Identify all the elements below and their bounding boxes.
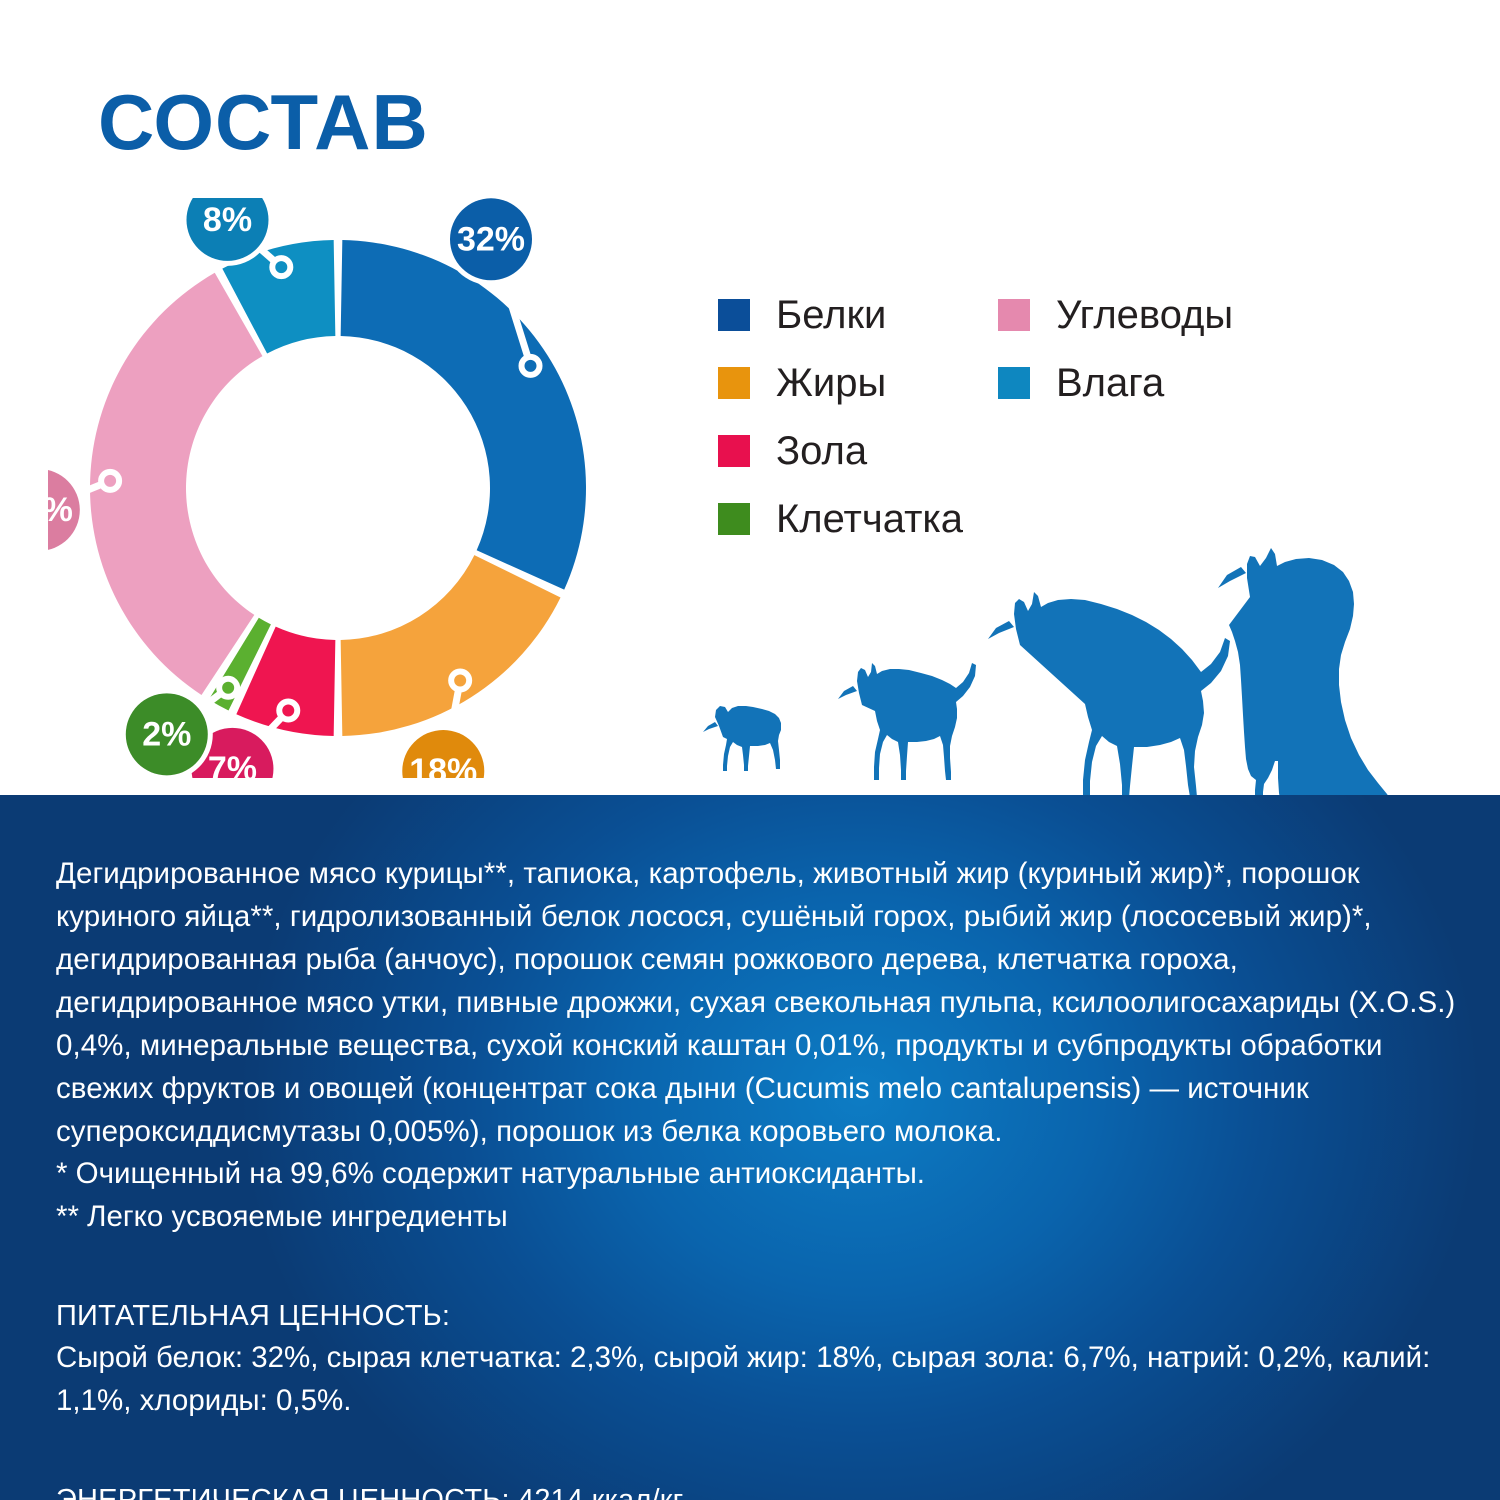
legend-item-moisture: Влага (998, 349, 1233, 417)
legend-swatch-ash (718, 435, 750, 467)
dog-silhouette-small (838, 663, 976, 780)
dog-silhouette-giant (1218, 548, 1399, 795)
legend-swatch-fat (718, 367, 750, 399)
footnote-single-star: * Очищенный на 99,6% содержит натуральны… (56, 1153, 1456, 1196)
leader-dot-жиры (451, 672, 469, 690)
leader-dot-зола (279, 702, 297, 720)
dogs-svg (690, 545, 1480, 795)
legend-label-protein: Белки (776, 295, 886, 335)
ingredients-paragraph: Дегидрированное мясо курицы**, тапиока, … (56, 853, 1456, 1153)
percent-label-зола: 7% (208, 750, 257, 778)
leader-dot-углеводы (101, 472, 119, 490)
nutrition-body: Сырой белок: 32%, сырая клетчатка: 2,3%,… (56, 1337, 1456, 1423)
dog-size-silhouettes (690, 545, 1480, 795)
legend-label-ash: Зола (776, 431, 867, 471)
leader-dot-белки (522, 357, 540, 375)
percent-label-углеводы: 33% (48, 491, 73, 529)
legend-swatch-fiber (718, 503, 750, 535)
legend-swatch-protein (718, 299, 750, 331)
legend-column-2: Углеводы Влага (998, 281, 1233, 417)
donut-slice-жиры (341, 555, 561, 736)
legend-label-moisture: Влага (1056, 363, 1164, 403)
percent-label-жиры: 18% (409, 752, 477, 778)
nutrition-heading: ПИТАТЕЛЬНАЯ ЦЕННОСТЬ: (56, 1295, 1456, 1337)
legend-item-fiber: Клетчатка (718, 485, 963, 553)
dog-silhouette-large (988, 592, 1230, 795)
donut-slice-белки (341, 240, 586, 590)
page-title: СОСТАВ (98, 83, 429, 161)
legend-swatch-carbs (998, 299, 1030, 331)
legend-item-ash: Зола (718, 417, 963, 485)
legend-label-fiber: Клетчатка (776, 499, 963, 539)
percent-label-клетчатка: 2% (142, 715, 191, 753)
percent-label-белки: 32% (457, 220, 525, 258)
bottom-blue-panel: Дегидрированное мясо курицы**, тапиока, … (0, 795, 1500, 1500)
top-white-panel: СОСТАВ 32%18%7%2%33%8% Белки Жиры Зола (0, 0, 1500, 795)
donut-svg: 32%18%7%2%33%8% (48, 198, 628, 778)
composition-donut-chart: 32%18%7%2%33%8% (48, 198, 628, 778)
leader-dot-влага (272, 258, 290, 276)
legend-label-carbs: Углеводы (1056, 295, 1233, 335)
leader-dot-клетчатка (219, 679, 237, 697)
footnote-double-star: ** Легко усвояемые ингредиенты (56, 1196, 1456, 1239)
percent-label-влага: 8% (203, 201, 252, 239)
legend-item-carbs: Углеводы (998, 281, 1233, 349)
legend-label-fat: Жиры (776, 363, 886, 403)
spacer-before-energy (56, 1423, 1456, 1479)
dog-silhouette-xsmall (703, 706, 781, 771)
bottom-text-content: Дегидрированное мясо курицы**, тапиока, … (56, 853, 1456, 1500)
legend-item-fat: Жиры (718, 349, 963, 417)
legend-item-protein: Белки (718, 281, 963, 349)
dogs-group (703, 548, 1399, 795)
spacer-before-nutrition (56, 1239, 1456, 1295)
energy-value-line: ЭНЕРГЕТИЧЕСКАЯ ЦЕННОСТЬ: 4214 ккал/кг. (56, 1479, 1456, 1500)
legend-column-1: Белки Жиры Зола Клетчатка (718, 281, 963, 553)
legend-swatch-moisture (998, 367, 1030, 399)
